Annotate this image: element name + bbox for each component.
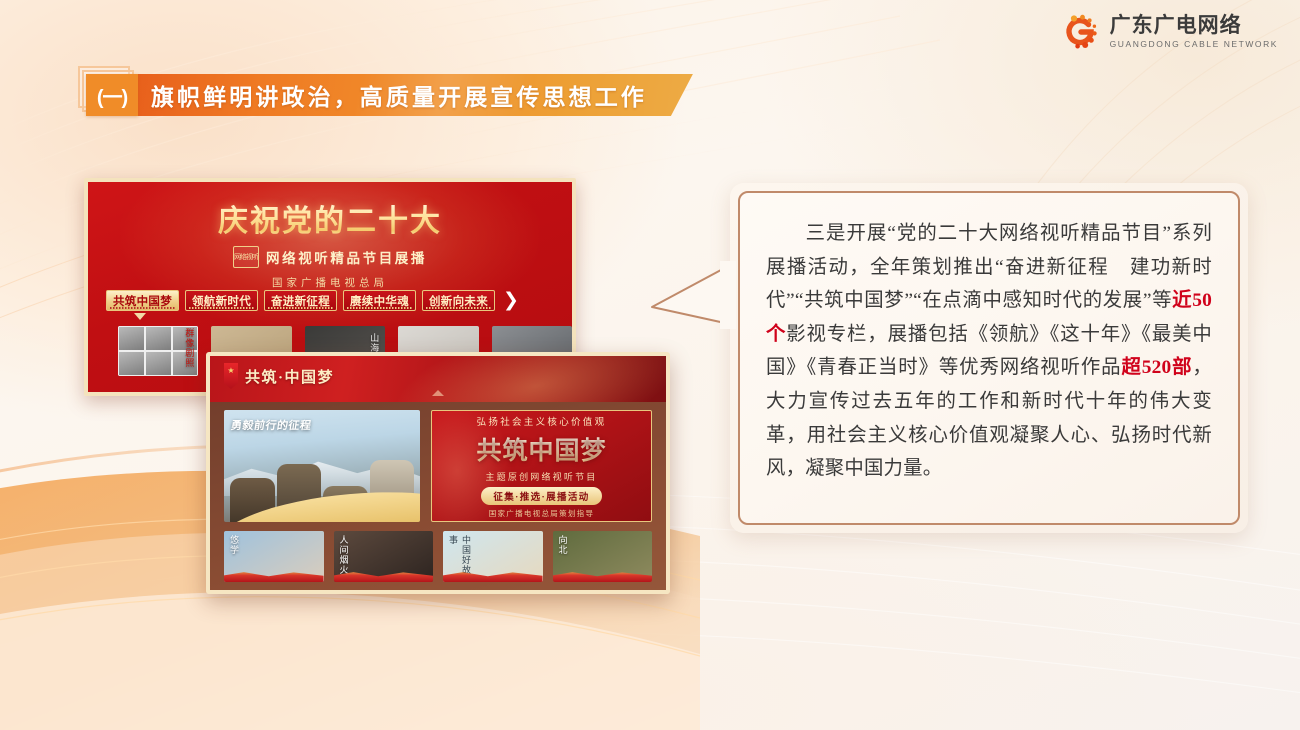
callout-paragraph: 三是开展“党的二十大网络视听精品节目”系列展播活动，全年策划推出“奋进新征程 建… xyxy=(766,217,1212,486)
tab-chuangxin-xiangweilai[interactable]: 创新向未来 xyxy=(422,290,495,311)
section-title-banner: (一) 旗帜鲜明讲政治，高质量开展宣传思想工作 xyxy=(86,74,693,116)
video-card[interactable]: 向北 xyxy=(553,531,653,582)
tab-linghang-xinshidai[interactable]: 领航新时代 xyxy=(185,290,258,311)
section-title-bar: 旗帜鲜明讲政治，高质量开展宣传思想工作 xyxy=(137,74,693,116)
page-card-row: 悠学 人间烟火 中国好故事 向北 xyxy=(224,531,652,582)
thumbnail-item[interactable]: 群像剧照 xyxy=(118,326,198,376)
logo-name-en: GUANGDONG CABLE NETWORK xyxy=(1110,40,1278,49)
tab-gengxu-zhonghuahun[interactable]: 赓续中华魂 xyxy=(343,290,416,311)
paragraph-part-1: 三是开展“党的二十大网络视听精品节目”系列展播活动，全年策划推出“奋进新征程 建… xyxy=(766,223,1212,311)
logo-name-cn: 广东广电网络 xyxy=(1110,15,1278,36)
thumbnail-title: 群像剧照 xyxy=(183,328,196,368)
video-card[interactable]: 悠学 xyxy=(224,531,324,582)
banner-line-3: 主题原创网络视听节目 xyxy=(485,470,597,483)
topbar-caret-icon xyxy=(432,390,444,396)
hero-poster-title: 勇毅前行的征程 xyxy=(230,417,313,433)
guangdong-cable-g-logo-icon xyxy=(1061,12,1101,52)
poster-header: 庆祝党的二十大 网络视听 网络视听精品节目展播 国家广播电视总局 xyxy=(88,196,572,290)
highlight-over-520: 超520部 xyxy=(1121,357,1192,378)
section-index-box: (一) xyxy=(86,74,138,116)
hero-poster[interactable]: 勇毅前行的征程 xyxy=(224,410,420,522)
section-title-text: 旗帜鲜明讲政治，高质量开展宣传思想工作 xyxy=(151,78,647,112)
slide-canvas: 广东广电网络 GUANGDONG CABLE NETWORK (一) 旗帜鲜明讲… xyxy=(0,0,1300,730)
video-card-title: 悠学 xyxy=(228,535,241,555)
page-ribbon-label: 共筑·中国梦 xyxy=(245,366,334,387)
party-flag-icon: ★ xyxy=(224,363,238,389)
active-tab-caret-icon xyxy=(134,313,146,320)
card-wave-decor xyxy=(553,570,653,582)
brand-logo: 广东广电网络 GUANGDONG CABLE NETWORK xyxy=(1061,12,1278,52)
poster-subtitle: 网络视听精品节目展播 xyxy=(266,247,427,267)
banner-line-5: 国家广播电视总局策划指导 xyxy=(489,508,595,519)
screenshot-bottom-page: ★ 共筑·中国梦 勇毅前行的征程 弘扬社会主义核心价值观 共筑中国梦 主题原创网… xyxy=(206,352,670,594)
video-card-title: 人间烟火 xyxy=(338,535,351,575)
callout-card: 三是开展“党的二十大网络视听精品节目”系列展播活动，全年策划推出“奋进新征程 建… xyxy=(730,183,1248,533)
banner-line-4: 征集·推选·展播活动 xyxy=(481,487,601,505)
video-card-title: 向北 xyxy=(557,535,570,555)
banner-line-2: 共筑中国梦 xyxy=(476,431,606,467)
card-wave-decor xyxy=(224,570,324,582)
video-card[interactable]: 人间烟火 xyxy=(334,531,434,582)
tab-gongzhu-zhongguomeng[interactable]: 共筑中国梦 xyxy=(106,290,179,311)
next-arrow-icon[interactable]: ❯ xyxy=(503,291,519,310)
hero-banner[interactable]: 弘扬社会主义核心价值观 共筑中国梦 主题原创网络视听节目 征集·推选·展播活动 … xyxy=(431,410,652,522)
page-hero-row: 勇毅前行的征程 弘扬社会主义核心价值观 共筑中国梦 主题原创网络视听节目 征集·… xyxy=(224,410,652,522)
section-index-label: (一) xyxy=(97,81,127,110)
poster-subtitle-row: 网络视听 网络视听精品节目展播 xyxy=(88,246,572,268)
page-ribbon: ★ 共筑·中国梦 xyxy=(224,363,334,389)
seal-icon: 网络视听 xyxy=(233,246,259,268)
video-card[interactable]: 中国好故事 xyxy=(443,531,543,582)
callout-pointer-tail xyxy=(648,261,734,329)
poster-tab-bar: 共筑中国梦 领航新时代 奋进新征程 赓续中华魂 创新向未来 ❯ xyxy=(106,290,564,311)
poster-organizer: 国家广播电视总局 xyxy=(88,275,572,290)
poster-main-title: 庆祝党的二十大 xyxy=(88,196,572,240)
banner-line-1: 弘扬社会主义核心价值观 xyxy=(477,414,607,428)
tab-fenjin-xinzhengcheng[interactable]: 奋进新征程 xyxy=(264,290,337,311)
callout-inner-frame: 三是开展“党的二十大网络视听精品节目”系列展播活动，全年策划推出“奋进新征程 建… xyxy=(738,191,1240,525)
